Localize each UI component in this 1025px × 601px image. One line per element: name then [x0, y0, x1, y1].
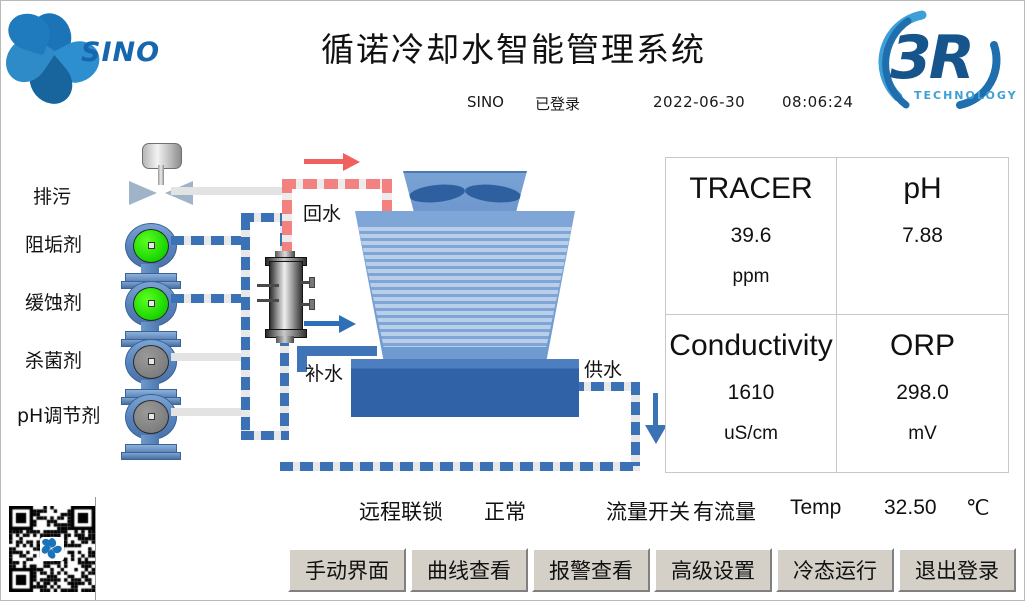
valve-stem	[158, 165, 164, 185]
reading-ph: pH 7.88	[837, 158, 1008, 315]
hmi-screen: SINO 循诺冷却水智能管理系统 SINO 已登录 2022-06-30 08:…	[0, 0, 1025, 601]
reading-conductivity: Conductivity 1610 uS/cm	[666, 315, 837, 472]
side-stream-filter-icon[interactable]	[263, 251, 307, 343]
pump-foot	[121, 452, 181, 460]
chemical-bottom-jumper	[241, 431, 289, 440]
fan-housing	[403, 171, 527, 213]
pump-center-dot	[148, 358, 155, 365]
supply-return-bottom-line	[280, 462, 640, 471]
reading-value: 39.6	[731, 224, 772, 248]
pump-center-dot	[148, 300, 155, 307]
tower-basin	[351, 359, 579, 417]
current-user: SINO	[467, 93, 504, 111]
antiscalant-feed-line	[171, 236, 249, 245]
dosing-pump-inhibitor[interactable]	[119, 281, 181, 343]
vessel-nozzle-lower-left	[257, 299, 279, 302]
pump-center-dot	[148, 413, 155, 420]
cold-start-button[interactable]: 冷态运行	[776, 548, 894, 592]
dosing-label-ph: pH调节剂	[17, 401, 100, 428]
readings-panel: TRACER 39.6 ppm pH 7.88 Conductivity 161…	[665, 157, 1009, 473]
reading-unit: mV	[908, 423, 937, 445]
flow-switch-label: 流量开关	[606, 496, 690, 526]
reading-orp: ORP 298.0 mV	[837, 315, 1008, 472]
3r-tagline: TECHNOLOGY	[914, 89, 1018, 102]
reading-value: 298.0	[896, 381, 949, 405]
fan-blade-left	[408, 182, 465, 205]
manual-interface-button[interactable]: 手动界面	[288, 548, 406, 592]
alarm-view-button[interactable]: 报警查看	[532, 548, 650, 592]
reading-value: 1610	[728, 381, 775, 405]
dosing-label-biocide: 杀菌剂	[25, 346, 82, 373]
vessel-cap-lower-right	[309, 299, 315, 310]
vessel-cap-upper-right	[309, 277, 315, 288]
logout-button[interactable]: 退出登录	[898, 548, 1016, 592]
temperature-value: 32.50	[884, 496, 937, 520]
qr-center-logo	[40, 537, 64, 561]
reading-name: pH	[903, 172, 941, 206]
reading-name: TRACER	[689, 172, 812, 206]
ph-dosing-pipe	[171, 408, 249, 416]
flow-switch-value: 有流量	[693, 496, 756, 526]
cooling-tower[interactable]	[341, 171, 601, 421]
vessel-nozzle-upper-left	[257, 284, 279, 287]
chemical-riser-line	[241, 217, 250, 439]
3r-wordmark: 3R	[890, 23, 972, 93]
label-makeup-water: 补水	[305, 359, 343, 386]
system-date: 2022-06-30	[653, 93, 745, 111]
reading-value: 7.88	[902, 224, 943, 248]
status-bar: 远程联锁 正常 流量开关 有流量 Temp 32.50 ℃	[1, 496, 1025, 530]
qr-code	[9, 506, 95, 592]
footer-divider	[95, 497, 96, 601]
trend-view-button[interactable]: 曲线查看	[410, 548, 528, 592]
advanced-settings-button[interactable]: 高级设置	[654, 548, 772, 592]
supply-flow-arrow	[645, 425, 667, 444]
dosing-label-blowdown: 排污	[33, 182, 71, 209]
makeup-arrow-tail	[304, 321, 342, 326]
pump-center-dot	[148, 242, 155, 249]
vessel-shell	[269, 261, 303, 335]
button-bar: 手动界面 曲线查看 报警查看 高级设置 冷态运行 退出登录	[288, 548, 1016, 592]
blowdown-pipe	[171, 187, 291, 195]
dosing-pump-biocide[interactable]	[119, 339, 181, 401]
remote-interlock-value: 正常	[484, 496, 526, 526]
vessel-foot	[276, 336, 294, 343]
biocide-pipe	[171, 353, 249, 361]
reading-name: ORP	[890, 329, 955, 363]
login-status: 已登录	[535, 93, 580, 114]
reading-unit: uS/cm	[724, 423, 778, 445]
dosing-pump-antiscalant[interactable]	[119, 223, 181, 285]
label-supply-water: 供水	[584, 355, 622, 382]
inhibitor-feed-line	[171, 294, 249, 303]
supply-riser-line	[631, 382, 640, 466]
reading-unit: ppm	[733, 266, 770, 288]
reading-tracer: TRACER 39.6 ppm	[666, 158, 837, 315]
temperature-unit: ℃	[966, 496, 990, 521]
dosing-pump-ph[interactable]	[119, 394, 181, 456]
return-flow-arrow	[343, 153, 360, 171]
dosing-label-inhibitor: 缓蚀剂	[25, 288, 82, 315]
return-arrow-tail	[304, 159, 346, 164]
3r-technology-logo: 3R TECHNOLOGY	[864, 5, 1016, 121]
remote-interlock-label: 远程联锁	[359, 496, 443, 526]
system-time: 08:06:24	[782, 93, 853, 111]
tower-fill-media	[355, 227, 575, 347]
fan-blade-right	[464, 182, 521, 205]
valve-body-left	[129, 181, 157, 205]
dosing-label-antiscalant: 阻垢剂	[25, 230, 82, 257]
reading-name: Conductivity	[669, 329, 832, 363]
label-return-water: 回水	[303, 199, 341, 226]
temperature-label: Temp	[790, 496, 841, 520]
